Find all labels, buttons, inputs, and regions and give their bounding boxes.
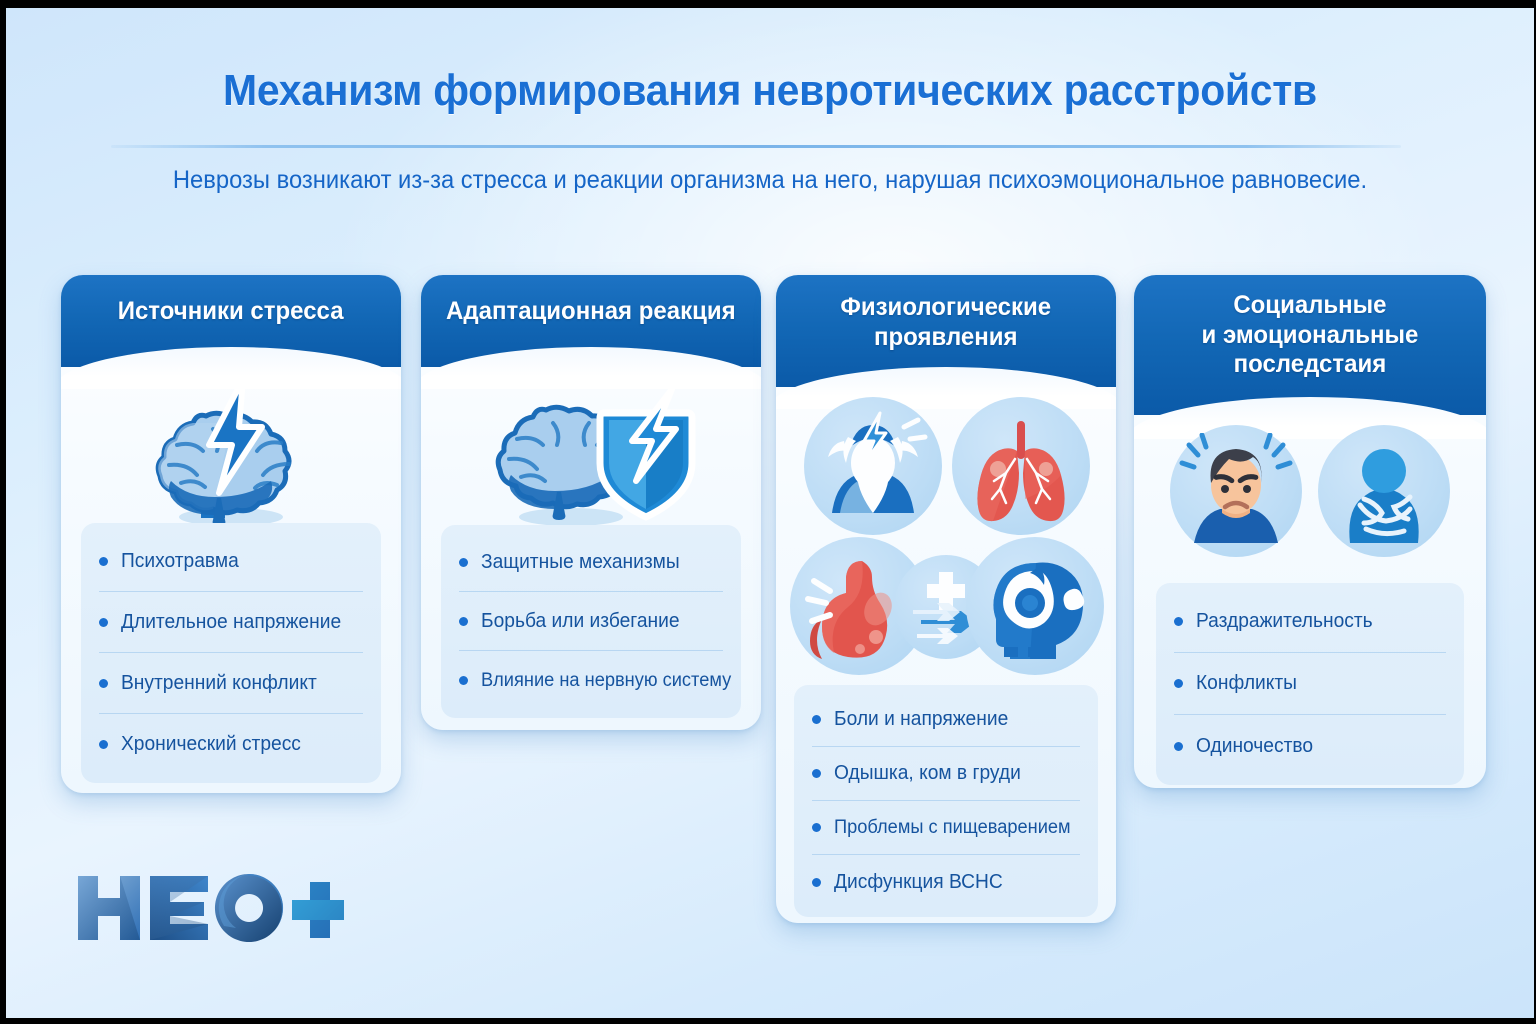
card-header: Источники стресса bbox=[61, 275, 401, 367]
list-item-label: Психотравма bbox=[121, 550, 239, 573]
page-subtitle: Неврозы возникают из-за стресса и реакци… bbox=[44, 166, 1496, 195]
list-item-label: Одиночество bbox=[1196, 735, 1313, 758]
brain-shield-lightning-icon bbox=[421, 371, 761, 531]
bullet-icon bbox=[459, 617, 468, 626]
page-title: Механизм формирования невротических расс… bbox=[59, 66, 1480, 116]
infographic-canvas: Механизм формирования невротических расс… bbox=[6, 8, 1534, 1018]
bullet-icon bbox=[1174, 742, 1183, 751]
list-item-label: Конфликты bbox=[1196, 672, 1297, 695]
list-item[interactable]: Хронический стресс bbox=[99, 714, 363, 775]
card-header: Адаптационная реакция bbox=[421, 275, 761, 367]
head-vegetative-icon bbox=[966, 537, 1104, 675]
list-item[interactable]: Проблемы с пищеварением bbox=[812, 801, 1080, 855]
card-list: Психотравма Длительное напряжение Внутре… bbox=[81, 523, 381, 783]
bullet-icon bbox=[99, 618, 108, 627]
bullet-icon bbox=[1174, 617, 1183, 626]
list-item[interactable]: Одышка, ком в груди bbox=[812, 747, 1080, 801]
list-item[interactable]: Влияние на нервную систему bbox=[459, 651, 723, 710]
list-item-label: Влияние на нервную систему bbox=[481, 670, 731, 692]
list-item-label: Дисфункция ВСНС bbox=[834, 871, 1003, 894]
card-header-label: Адаптационная реакция bbox=[437, 297, 746, 327]
list-item-label: Длительное напряжение bbox=[121, 611, 341, 634]
icon-group bbox=[1164, 425, 1456, 565]
list-item[interactable]: Психотравма bbox=[99, 531, 363, 592]
list-item-label: Борьба или избегание bbox=[481, 610, 680, 633]
list-item[interactable]: Одиночество bbox=[1174, 715, 1446, 777]
card-header-label: Физиологические проявления bbox=[831, 293, 1061, 352]
list-item[interactable]: Борьба или избегание bbox=[459, 592, 723, 651]
list-item[interactable]: Дисфункция ВСНС bbox=[812, 855, 1080, 909]
bullet-icon bbox=[99, 740, 108, 749]
card-header-label: Социальные и эмоциональные последстаия bbox=[1192, 291, 1428, 380]
bullet-icon bbox=[812, 769, 821, 778]
list-item-label: Проблемы с пищеварением bbox=[834, 817, 1071, 839]
lungs-icon bbox=[952, 397, 1090, 535]
list-item[interactable]: Длительное напряжение bbox=[99, 592, 363, 653]
card-social-emotional-consequences[interactable]: Социальные и эмоциональные последстаия bbox=[1134, 275, 1486, 788]
card-list: Защитные механизмы Борьба или избегание … bbox=[441, 525, 741, 718]
headache-person-icon bbox=[804, 397, 942, 535]
list-item-label: Одышка, ком в груди bbox=[834, 762, 1021, 785]
card-header: Физиологические проявления bbox=[776, 275, 1116, 387]
list-item-label: Защитные механизмы bbox=[481, 551, 680, 574]
list-item-label: Внутренний конфликт bbox=[121, 672, 317, 695]
card-physiological-manifestations[interactable]: Физиологические проявления bbox=[776, 275, 1116, 923]
card-list: Раздражительность Конфликты Одиночество bbox=[1156, 583, 1464, 785]
list-item[interactable]: Конфликты bbox=[1174, 653, 1446, 715]
brand-logo[interactable] bbox=[74, 870, 344, 946]
bullet-icon bbox=[812, 823, 821, 832]
bullet-icon bbox=[812, 715, 821, 724]
card-sources-of-stress[interactable]: Источники стресса Психотравма bbox=[61, 275, 401, 793]
bullet-icon bbox=[1174, 679, 1183, 688]
card-adaptive-reaction[interactable]: Адаптационная реакция Защи bbox=[421, 275, 761, 730]
list-item-label: Хронический стресс bbox=[121, 733, 301, 756]
title-divider bbox=[111, 145, 1401, 148]
list-item-label: Боли и напряжение bbox=[834, 708, 1008, 731]
list-item[interactable]: Защитные механизмы bbox=[459, 533, 723, 592]
bullet-icon bbox=[459, 558, 468, 567]
bullet-icon bbox=[459, 676, 468, 685]
bullet-icon bbox=[99, 679, 108, 688]
list-item[interactable]: Внутренний конфликт bbox=[99, 653, 363, 714]
card-list: Боли и напряжение Одышка, ком в груди Пр… bbox=[794, 685, 1098, 917]
lonely-person-icon bbox=[1318, 425, 1450, 557]
brain-lightning-icon bbox=[61, 371, 401, 531]
list-item[interactable]: Боли и напряжение bbox=[812, 693, 1080, 747]
card-header: Социальные и эмоциональные последстаия bbox=[1134, 275, 1486, 415]
list-item-label: Раздражительность bbox=[1196, 610, 1373, 633]
list-item[interactable]: Раздражительность bbox=[1174, 591, 1446, 653]
icon-group bbox=[790, 397, 1102, 677]
card-header-label: Источники стресса bbox=[108, 297, 353, 327]
angry-face-icon bbox=[1170, 425, 1302, 557]
bullet-icon bbox=[812, 878, 821, 887]
bullet-icon bbox=[99, 557, 108, 566]
